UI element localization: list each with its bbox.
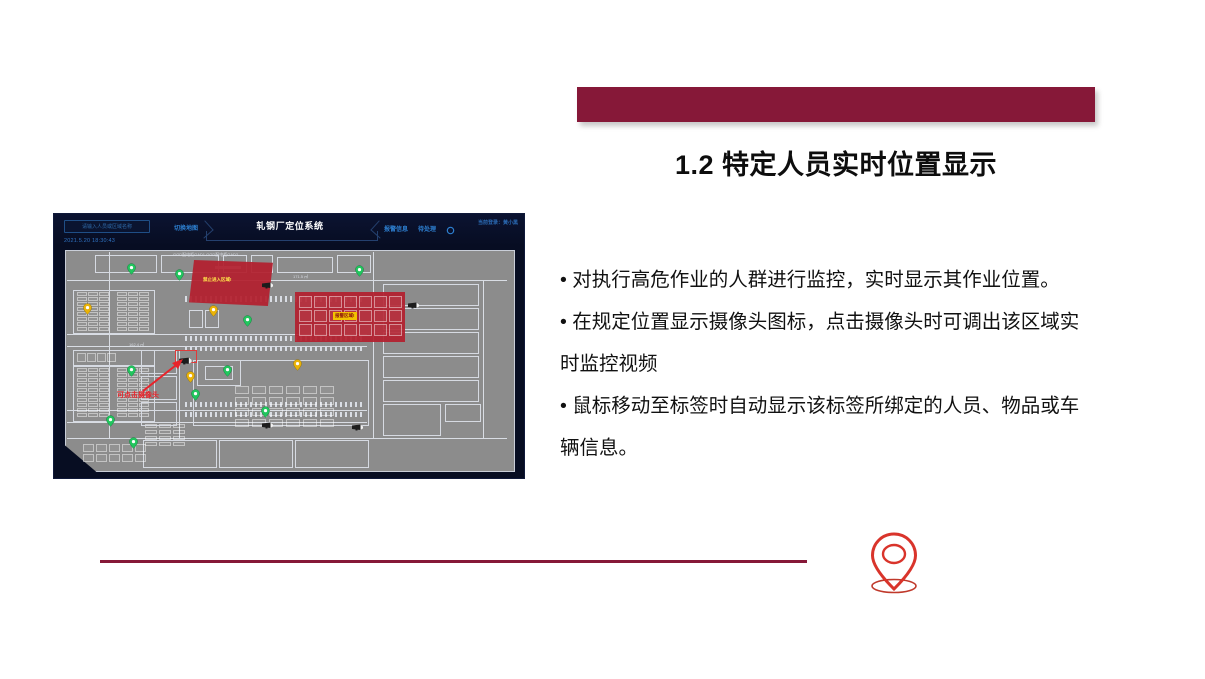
factory-floor-plan[interactable]: GGD配电柜GAD1 GGD配电柜GAD2 171.5 ㎡ 162.4 ㎡ [65, 250, 515, 472]
plan-wall [67, 280, 507, 281]
plan-seating-rows [235, 386, 335, 427]
gear-icon[interactable] [446, 222, 455, 231]
person-location-marker-green[interactable] [175, 268, 184, 280]
person-location-marker-green[interactable] [191, 388, 200, 400]
title-accent-bar [577, 87, 1095, 122]
embedded-app-screenshot: 请输入人员或区域名称 2021.5.20 18:30:43 切换地图 轧钢厂定位… [53, 213, 525, 479]
person-location-marker-green[interactable] [355, 264, 364, 276]
person-location-marker-green[interactable] [243, 314, 252, 326]
plan-corridor-cell [383, 356, 479, 378]
person-location-marker-green[interactable] [106, 414, 115, 426]
plan-room [337, 255, 371, 273]
forbidden-zone-label: 禁止进入区域! [203, 277, 232, 283]
plan-room [141, 402, 177, 426]
bullet-item-3: • 鼠标移动至标签时自动显示该标签所绑定的人员、物品或车辆信息。 [560, 385, 1090, 469]
person-location-marker-yellow[interactable] [83, 302, 92, 314]
plan-wall [483, 280, 484, 438]
plan-rack-group [83, 444, 148, 462]
plan-machine [189, 310, 203, 328]
plan-area-label-1: 171.5 ㎡ [293, 274, 308, 280]
slide-canvas: 1.2 特定人员实时位置显示 • 对执行高危作业的人群进行监控，实时显示其作业位… [0, 0, 1205, 679]
brand-frame-decor [206, 231, 378, 241]
person-location-marker-yellow[interactable] [186, 370, 195, 382]
cctv-camera-icon[interactable] [261, 276, 275, 283]
person-location-marker-green[interactable] [129, 436, 138, 448]
bullet-item-2: • 在规定位置显示摄像头图标，点击摄像头时可调出该区域实时监控视频 [560, 301, 1090, 385]
plan-area-label-2: 162.4 ㎡ [129, 342, 144, 348]
plan-wall [373, 252, 374, 438]
plan-corridor-cell [445, 404, 481, 422]
plan-conveyor [185, 346, 365, 351]
plan-corridor-cell [383, 404, 441, 436]
cctv-camera-icon[interactable] [351, 418, 365, 425]
app-header: 请输入人员或区域名称 2021.5.20 18:30:43 切换地图 轧钢厂定位… [54, 214, 524, 246]
camera-annotation-text: 可点击摄像头 [117, 390, 159, 400]
bullet-list: • 对执行高危作业的人群进行监控，实时显示其作业位置。 • 在规定位置显示摄像头… [560, 259, 1090, 469]
divider-rule [100, 560, 807, 563]
person-location-marker-yellow[interactable] [293, 358, 302, 370]
current-user-label: 当前登录：黄小黑 [478, 219, 518, 226]
alarm-info-button[interactable]: 报警信息 [384, 224, 408, 233]
person-location-marker-green[interactable] [127, 364, 136, 376]
plan-room [277, 257, 333, 273]
plan-equipment-label: GGD配电柜GAD1 GGD配电柜GAD2 [173, 252, 238, 258]
person-location-marker-green[interactable] [127, 262, 136, 274]
location-pin-icon [862, 528, 926, 598]
bullet-item-1: • 对执行高危作业的人群进行监控，实时显示其作业位置。 [560, 259, 1090, 301]
cctv-camera-icon[interactable] [407, 296, 421, 303]
plan-room [95, 255, 157, 273]
plan-room [219, 440, 293, 468]
plan-room [143, 440, 217, 468]
person-location-marker-yellow[interactable] [209, 304, 218, 316]
page-title: 1.2 特定人员实时位置显示 [577, 143, 1095, 182]
timestamp: 2021.5.20 18:30:43 [64, 238, 115, 244]
plan-corridor-cell [383, 380, 479, 402]
annotation-arrow-icon [139, 358, 187, 394]
alarm-zone-label: 报警区域! [333, 312, 357, 320]
person-location-marker-green[interactable] [223, 364, 232, 376]
plan-room [295, 440, 369, 468]
person-location-marker-green[interactable] [261, 405, 270, 417]
pending-button[interactable]: 待处理 [418, 224, 436, 233]
